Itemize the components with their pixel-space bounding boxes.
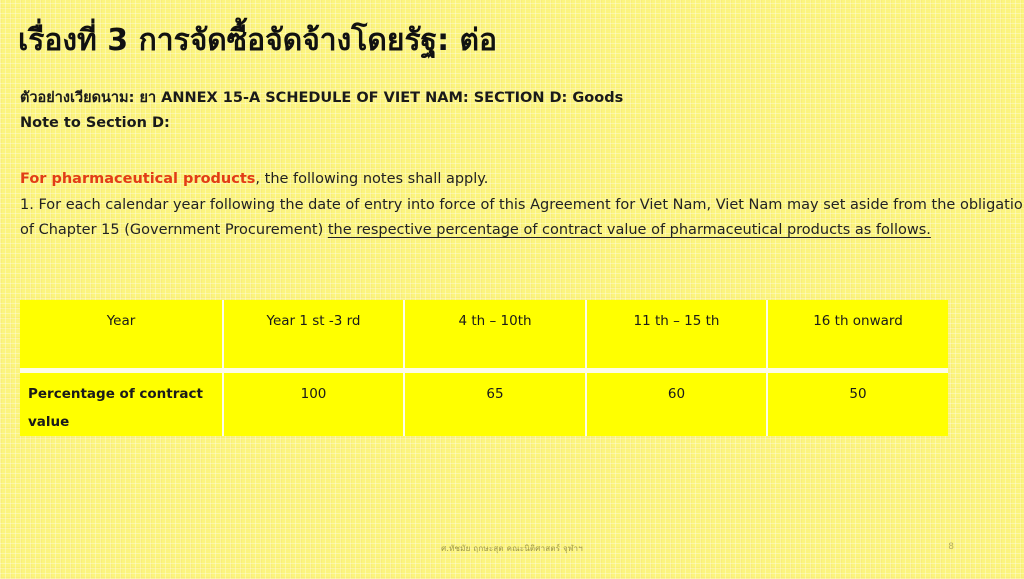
body-line-3-plain: of Chapter 15 (Government Procurement): [20, 222, 328, 238]
body-line-1: For pharmaceutical products, the followi…: [20, 167, 980, 193]
table-row: Percentage of contract value 100 65 60 5…: [20, 368, 948, 436]
table-cell-percentage-year-11-15: 60: [587, 368, 768, 436]
table-header-cell-year-1-3: Year 1 st -3 rd: [224, 300, 405, 368]
table-header-cell-year-4-10: 4 th – 10th: [405, 300, 587, 368]
table-cell-percentage-year-16-onward: 50: [768, 368, 948, 436]
body-line-2: 1. For each calendar year following the …: [20, 193, 980, 219]
table-header-cell-year-11-15: 11 th – 15 th: [587, 300, 768, 368]
table-cell-percentage-year-4-10: 65: [405, 368, 587, 436]
footer-attribution: ศ.ทัชมัย ฤกษะสุต คณะนิติศาสตร์ จุฬาฯ: [0, 542, 1024, 555]
table-cell-percentage-year-1-3: 100: [224, 368, 405, 436]
body-line-1-rest: , the following notes shall apply.: [255, 171, 488, 187]
table-header-row: Year Year 1 st -3 rd 4 th – 10th 11 th –…: [20, 300, 948, 368]
slide-canvas: เรื่องที่ 3 การจัดซื้อจัดจ้างโดยรัฐ: ต่อ…: [0, 0, 1024, 579]
subheading-block: ตัวอย่างเวียดนาม: ยา ANNEX 15-A SCHEDULE…: [20, 86, 980, 136]
body-line-1-emphasis: For pharmaceutical products: [20, 171, 255, 187]
page-title: เรื่องที่ 3 การจัดซื้อจัดจ้างโดยรัฐ: ต่อ: [18, 22, 978, 60]
page-number: 8: [948, 542, 954, 552]
subheading-line-1: ตัวอย่างเวียดนาม: ยา ANNEX 15-A SCHEDULE…: [20, 86, 980, 111]
subheading-line-2: Note to Section D:: [20, 111, 980, 136]
body-line-3: of Chapter 15 (Government Procurement) t…: [20, 218, 980, 244]
body-block: For pharmaceutical products, the followi…: [20, 167, 980, 244]
table-header-cell-year-16-onward: 16 th onward: [768, 300, 948, 368]
procurement-percentage-table: Year Year 1 st -3 rd 4 th – 10th 11 th –…: [20, 300, 948, 436]
table-row-label-percentage-of-contract-value: Percentage of contract value: [20, 368, 224, 436]
table-header-cell-year: Year: [20, 300, 224, 368]
body-line-3-underlined: the respective percentage of contract va…: [328, 222, 931, 238]
